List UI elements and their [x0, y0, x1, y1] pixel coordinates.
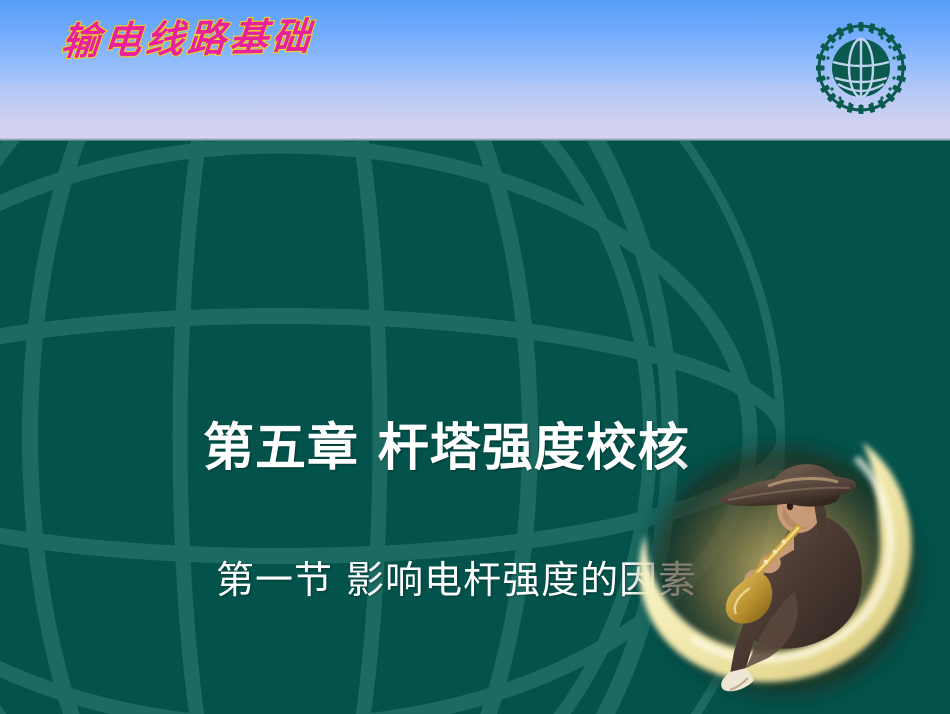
- moon-musician-icon: [618, 406, 950, 714]
- slide-header-band: 输电线路基础: [0, 0, 950, 140]
- presentation-slide: 输电线路基础: [0, 0, 950, 714]
- university-seal-globe-icon: [816, 18, 906, 118]
- course-title-calligraphy: 输电线路基础: [59, 5, 316, 65]
- page-title: 第五章 杆塔强度校核: [203, 406, 690, 480]
